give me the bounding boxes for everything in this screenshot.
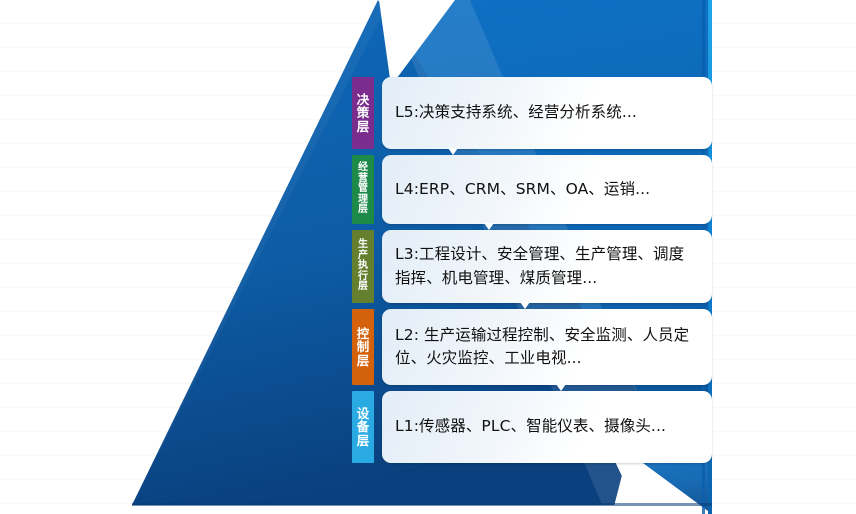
layer-row-l3[interactable]: 生产执行层L3:工程设计、安全管理、生产管理、调度指挥、机电管理、煤质管理... [352, 230, 712, 303]
layer-tag-char: 制 [357, 340, 370, 353]
layer-tag-l5: 决策层 [352, 77, 374, 149]
layer-tag-char: 层 [357, 354, 370, 367]
layer-card-text: L1:传感器、PLC、智能仪表、摄像头... [395, 415, 666, 438]
layer-card-l4[interactable]: L4:ERP、CRM、SRM、OA、运销... [382, 155, 712, 224]
layer-tag-char: 备 [357, 420, 370, 433]
layer-tag-l2: 控制层 [352, 309, 374, 385]
layer-card-line: L2: 生产运输过程控制、安全监测、人员定 [395, 324, 689, 347]
pyramid-diagram: 决策层L5:决策支持系统、经营分析系统...经营管理层L4:ERP、CRM、SR… [0, 0, 856, 514]
layer-tag-char: 层 [357, 120, 370, 133]
layer-tag-l4: 经营管理层 [352, 155, 374, 224]
layer-list: 决策层L5:决策支持系统、经营分析系统...经营管理层L4:ERP、CRM、SR… [352, 77, 712, 469]
layer-row-l4[interactable]: 经营管理层L4:ERP、CRM、SRM、OA、运销... [352, 155, 712, 224]
layer-card-line: 位、火灾监控、工业电视... [395, 347, 689, 370]
layer-card-l2[interactable]: L2: 生产运输过程控制、安全监测、人员定位、火灾监控、工业电视... [382, 309, 712, 385]
layer-tag-char: 策 [357, 106, 370, 119]
layer-card-text: L3:工程设计、安全管理、生产管理、调度指挥、机电管理、煤质管理... [395, 243, 684, 290]
layer-row-l5[interactable]: 决策层L5:决策支持系统、经营分析系统... [352, 77, 712, 149]
flow-chevron-down-icon [484, 223, 494, 230]
layer-tag-char: 决 [357, 93, 370, 106]
flow-chevron-down-icon [556, 384, 566, 391]
layer-tag-char: 设 [357, 407, 370, 420]
layer-card-l5[interactable]: L5:决策支持系统、经营分析系统... [382, 77, 712, 149]
layer-card-line: 指挥、机电管理、煤质管理... [395, 267, 684, 290]
layer-row-l1[interactable]: 设备层L1:传感器、PLC、智能仪表、摄像头... [352, 391, 712, 463]
layer-tag-char: 层 [358, 205, 368, 216]
flow-chevron-down-icon [520, 302, 530, 309]
layer-card-line: L5:决策支持系统、经营分析系统... [395, 101, 637, 124]
pyramid-base-shadow [132, 503, 712, 506]
layer-card-line: L3:工程设计、安全管理、生产管理、调度 [395, 243, 684, 266]
layer-card-line: L1:传感器、PLC、智能仪表、摄像头... [395, 415, 666, 438]
layer-card-text: L4:ERP、CRM、SRM、OA、运销... [395, 178, 650, 201]
layer-tag-char: 控 [357, 327, 370, 340]
layer-row-l2[interactable]: 控制层L2: 生产运输过程控制、安全监测、人员定位、火灾监控、工业电视... [352, 309, 712, 385]
layer-card-text: L2: 生产运输过程控制、安全监测、人员定位、火灾监控、工业电视... [395, 324, 689, 371]
layer-tag-l3: 生产执行层 [352, 230, 374, 303]
layer-card-l3[interactable]: L3:工程设计、安全管理、生产管理、调度指挥、机电管理、煤质管理... [382, 230, 712, 303]
layer-tag-char: 层 [357, 434, 370, 447]
layer-tag-char: 层 [358, 282, 368, 293]
layer-card-text: L5:决策支持系统、经营分析系统... [395, 101, 637, 124]
flow-chevron-down-icon [448, 148, 458, 155]
layer-card-l1[interactable]: L1:传感器、PLC、智能仪表、摄像头... [382, 391, 712, 463]
layer-card-line: L4:ERP、CRM、SRM、OA、运销... [395, 178, 650, 201]
layer-tag-l1: 设备层 [352, 391, 374, 463]
